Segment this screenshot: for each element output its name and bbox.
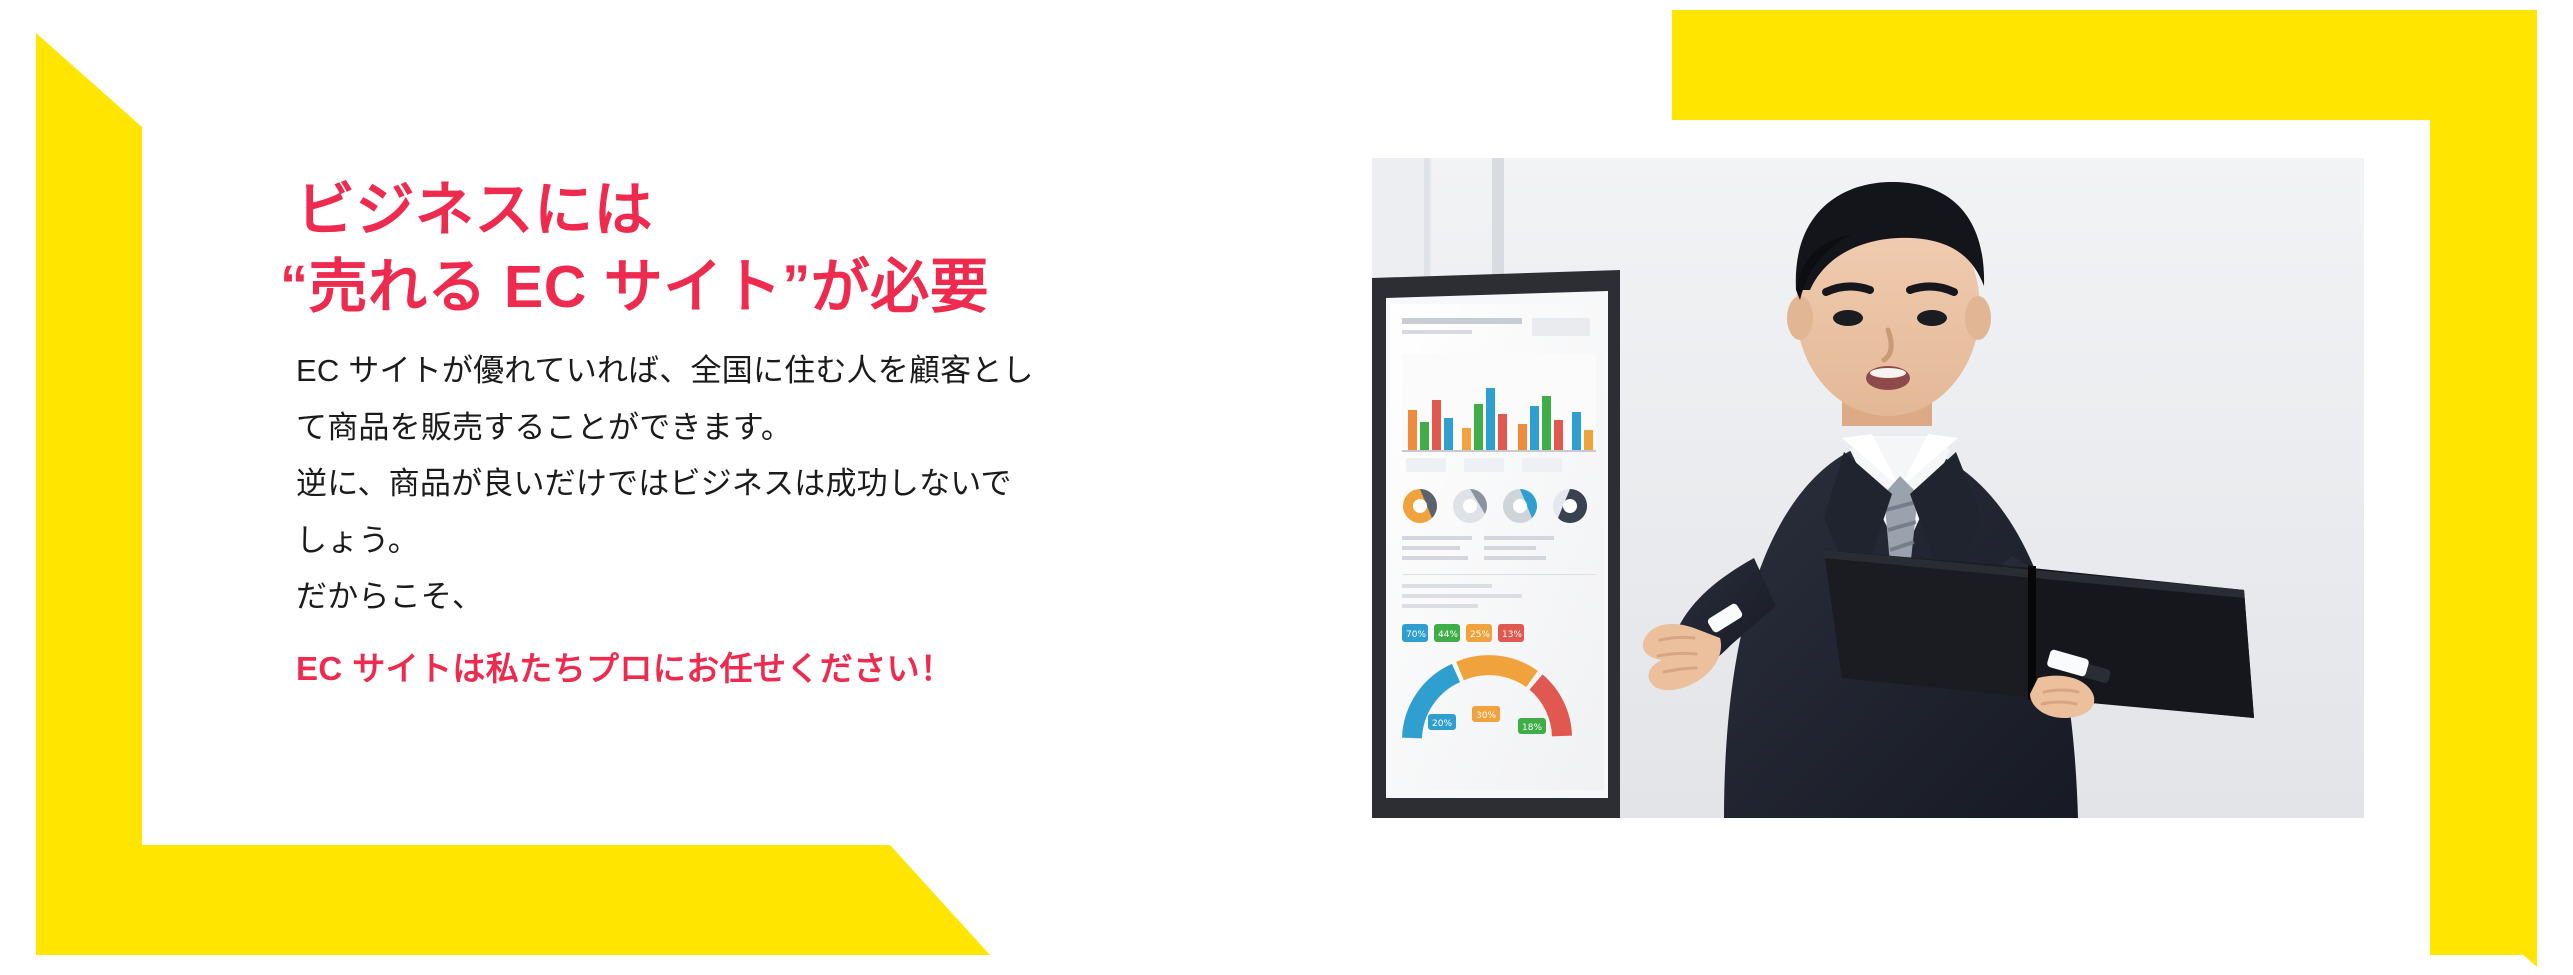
- svg-text:13%: 13%: [1502, 630, 1522, 640]
- quote-open-mark: “: [280, 249, 309, 322]
- yellow-corner-bracket-top-left: [36, 33, 142, 700]
- yellow-corner-bracket-bottom-left: [36, 845, 990, 955]
- yellow-corner-bracket-bottom-left-stem: [36, 700, 142, 955]
- yellow-corner-bracket-top-right-notch: [1672, 10, 1820, 120]
- hero-headline: ビジネスには “売れる EC サイト”が必要: [296, 172, 1246, 325]
- yellow-corner-bracket-bottom-right: [2430, 845, 2537, 955]
- hero-body-copy: EC サイトが優れていれば、全国に住む人を顧客とし て商品を販売することができま…: [296, 343, 1246, 625]
- hero-photo: 70% 44% 25% 13% 20% 30% 18%: [1372, 158, 2364, 818]
- quote-close-mark: ”: [782, 249, 811, 322]
- yellow-corner-bracket-top-right-stem: [2430, 10, 2537, 967]
- svg-text:18%: 18%: [1522, 723, 1542, 733]
- headline-line-2: “売れる EC サイト”が必要: [280, 249, 1246, 326]
- hero-cta-text: EC サイトは私たちプロにお任せください！: [296, 643, 1246, 696]
- headline-line-2-tail: が必要: [811, 254, 990, 320]
- body-copy-line: て商品を販売することができます。: [296, 400, 1246, 456]
- body-copy-line: 逆に、商品が良いだけではビジネスは成功しないで: [296, 456, 1246, 512]
- body-copy-line: だからこそ、: [296, 569, 1246, 625]
- yellow-corner-bracket-top-right: [1672, 10, 2537, 120]
- hero-text-column: ビジネスには “売れる EC サイト”が必要 EC サイトが優れていれば、全国に…: [296, 172, 1246, 696]
- businessman-presenting-charts-image: 70% 44% 25% 13% 20% 30% 18%: [1372, 158, 2364, 818]
- headline-line-1: ビジネスには: [296, 172, 1246, 249]
- svg-text:30%: 30%: [1476, 711, 1496, 721]
- hero-section: ビジネスには “売れる EC サイト”が必要 EC サイトが優れていれば、全国に…: [0, 0, 2573, 975]
- svg-text:20%: 20%: [1432, 719, 1452, 729]
- headline-emphasis-text: 売れる EC サイト: [309, 254, 783, 320]
- body-copy-line: しょう。: [296, 513, 1246, 569]
- body-copy-line: EC サイトが優れていれば、全国に住む人を顧客とし: [296, 343, 1246, 399]
- svg-text:70%: 70%: [1406, 630, 1426, 640]
- svg-text:25%: 25%: [1470, 630, 1490, 640]
- svg-text:44%: 44%: [1438, 630, 1458, 640]
